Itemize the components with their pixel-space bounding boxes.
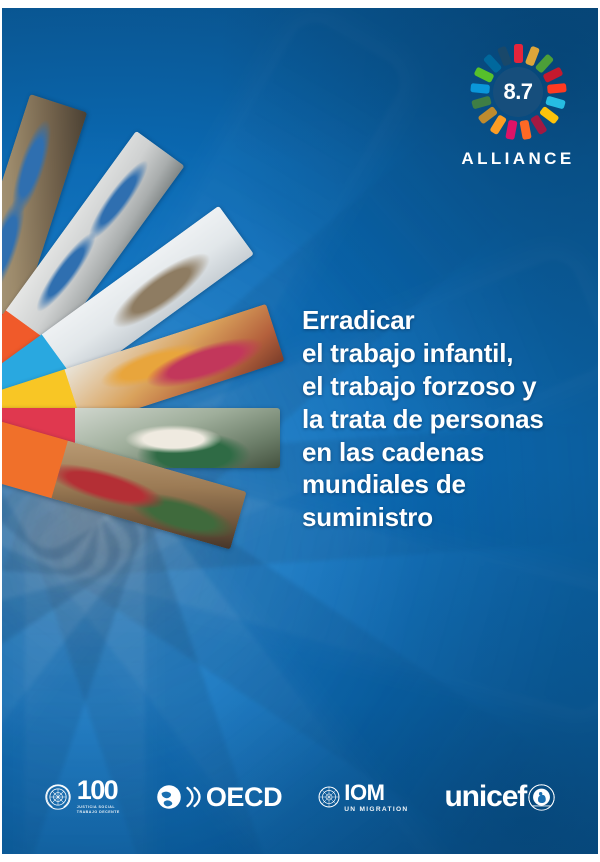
ilo-centenary-number: 100 <box>77 779 117 802</box>
cover-title-line: la trata de personas <box>302 403 588 436</box>
logo-oecd: OECD <box>156 784 282 811</box>
un-globe-emblem-icon <box>318 786 340 808</box>
alliance-wordmark: ALLIANCE <box>458 149 578 169</box>
iom-wordmark: IOM <box>344 782 384 804</box>
cover-title: Erradicarel trabajo infantil,el trabajo … <box>302 304 588 534</box>
un-wreath-emblem-icon <box>45 784 71 810</box>
ilo-centenary: 100 JUSTICIA SOCIAL TRABAJO DECENTE <box>77 779 120 815</box>
cover-title-line: suministro <box>302 501 588 534</box>
sdg-wheel-segment <box>471 96 492 110</box>
cover-title-line: Erradicar <box>302 304 588 337</box>
unicef-wordmark: unicef <box>444 782 526 812</box>
iom-tagline: UN MIGRATION <box>344 806 408 813</box>
report-cover: 8.7 ALLIANCE Erradicarel trabajo infanti… <box>0 0 600 862</box>
sdg-wheel-icon: 8.7 <box>470 44 566 140</box>
sdg-wheel-segment <box>514 44 523 63</box>
sdg-wheel-segment <box>505 120 517 140</box>
sdg-wheel-segment <box>546 83 566 94</box>
alliance-logo: 8.7 ALLIANCE <box>458 44 578 169</box>
cover-title-line: el trabajo infantil, <box>302 337 588 370</box>
oecd-wordmark: OECD <box>206 784 282 811</box>
sdg-wheel-segment <box>470 83 490 94</box>
logo-iom: IOM UN MIGRATION <box>318 782 408 813</box>
cover-title-line: mundiales de <box>302 468 588 501</box>
cover-title-line: el trabajo forzoso y <box>302 370 588 403</box>
alliance-number: 8.7 <box>503 79 532 105</box>
sdg-wheel-segment <box>519 120 531 140</box>
sdg-wheel-segment <box>545 96 566 110</box>
globe-icon <box>156 784 182 810</box>
logo-ilo: 100 JUSTICIA SOCIAL TRABAJO DECENTE <box>45 779 120 815</box>
cover-artwork: 8.7 ALLIANCE Erradicarel trabajo infanti… <box>2 8 598 854</box>
logo-unicef: unicef <box>444 782 555 812</box>
ilo-tagline: JUSTICIA SOCIAL TRABAJO DECENTE <box>77 805 120 815</box>
chevrons-icon <box>186 786 202 808</box>
unicef-mother-child-emblem-icon <box>528 784 555 811</box>
partner-logo-strip: 100 JUSTICIA SOCIAL TRABAJO DECENTE OECD <box>2 766 598 828</box>
alliance-hub: 8.7 <box>493 67 543 117</box>
iom-text: IOM UN MIGRATION <box>344 782 408 813</box>
cover-title-line: en las cadenas <box>302 436 588 469</box>
